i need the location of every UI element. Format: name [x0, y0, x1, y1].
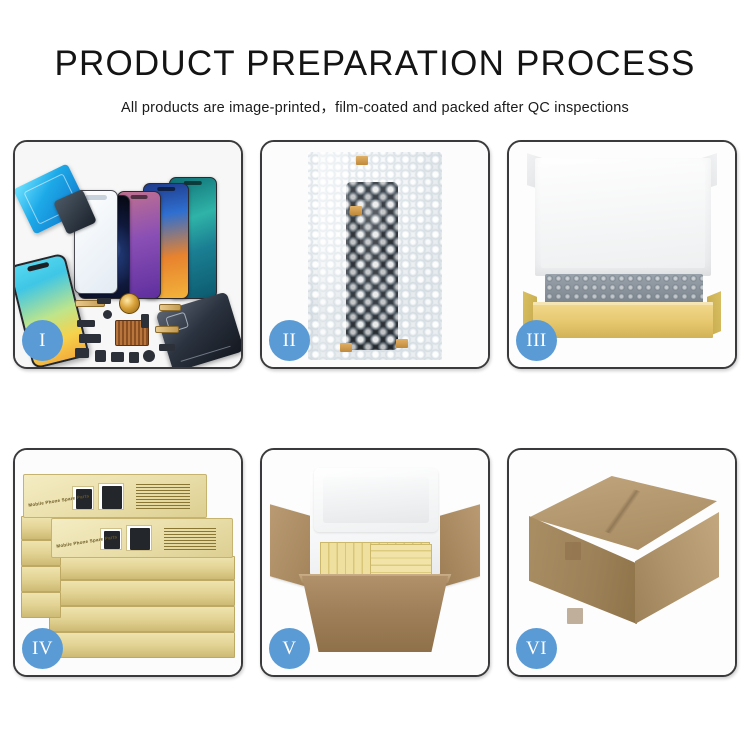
notch-icon	[157, 187, 175, 191]
label-image-box	[126, 525, 152, 551]
step-badge-4: IV	[22, 628, 63, 669]
plastic-gloss-highlight	[318, 152, 348, 360]
stacked-box	[49, 606, 235, 632]
tape-patch-icon	[567, 608, 583, 624]
printed-box-upper: Mobile Phone Spare Parts	[51, 518, 233, 558]
process-card-1: I	[13, 140, 243, 369]
small-part-icon	[159, 344, 175, 351]
step-badge-5: V	[269, 628, 310, 669]
foam-box-lid-icon	[314, 468, 438, 532]
header: PRODUCT PREPARATION PROCESS All products…	[0, 0, 750, 117]
step-badge-2: II	[269, 320, 310, 361]
flex-cable-icon	[159, 304, 181, 311]
stacked-box	[49, 580, 235, 606]
bubble-wrap-bag-icon	[308, 152, 442, 360]
notch-icon	[131, 195, 148, 199]
stacked-box	[21, 566, 61, 592]
page-subtitle: All products are image-printed，film-coat…	[0, 96, 750, 117]
gray-bubble-wrap-icon	[545, 274, 703, 304]
small-part-icon	[129, 352, 139, 363]
stacked-box	[49, 632, 235, 658]
product-preparation-infographic: PRODUCT PREPARATION PROCESS All products…	[0, 0, 750, 750]
process-card-2: II	[260, 140, 490, 369]
kraft-box-front-icon	[533, 302, 713, 338]
small-part-icon	[141, 314, 149, 328]
small-part-icon	[95, 350, 106, 362]
camera-lens-icon	[103, 310, 112, 319]
step-badge-3: III	[516, 320, 557, 361]
small-part-icon	[75, 348, 89, 358]
phone-thumbnail-icon	[130, 528, 150, 550]
label-spec-lines	[136, 483, 190, 509]
stacked-box	[21, 592, 61, 618]
small-part-icon	[79, 334, 101, 343]
step-badge-1: I	[22, 320, 63, 361]
process-card-6: VI	[507, 448, 737, 677]
label-spec-lines	[164, 526, 216, 550]
phone-thumbnail-icon	[102, 486, 122, 509]
spare-parts-group	[73, 292, 203, 367]
process-card-5: V	[260, 448, 490, 677]
small-part-icon	[77, 320, 95, 327]
printed-box-top: Mobile Phone Spare Parts	[23, 474, 207, 518]
stacked-box	[49, 556, 235, 580]
step-badge-6: VI	[516, 628, 557, 669]
label-image-box	[98, 483, 124, 510]
speaker-module-icon	[119, 293, 140, 314]
tape-tab-icon	[356, 156, 368, 165]
button-part-icon	[143, 350, 155, 362]
tape-tab-icon	[350, 206, 362, 215]
tape-tab-icon	[396, 339, 408, 348]
process-card-4: Mobile Phone Spare Parts Mobile Phone Sp…	[13, 448, 243, 677]
tape-tab-icon	[340, 343, 352, 352]
process-card-3: III	[507, 140, 737, 369]
white-foam-lid-icon	[535, 158, 711, 276]
carton-body-icon	[292, 576, 458, 652]
flex-cable-icon	[155, 326, 179, 333]
page-title: PRODUCT PREPARATION PROCESS	[0, 44, 750, 84]
small-part-icon	[111, 352, 124, 362]
small-part-icon	[97, 298, 111, 304]
tape-patch-icon	[565, 542, 581, 560]
process-step-grid: I II	[13, 140, 737, 677]
